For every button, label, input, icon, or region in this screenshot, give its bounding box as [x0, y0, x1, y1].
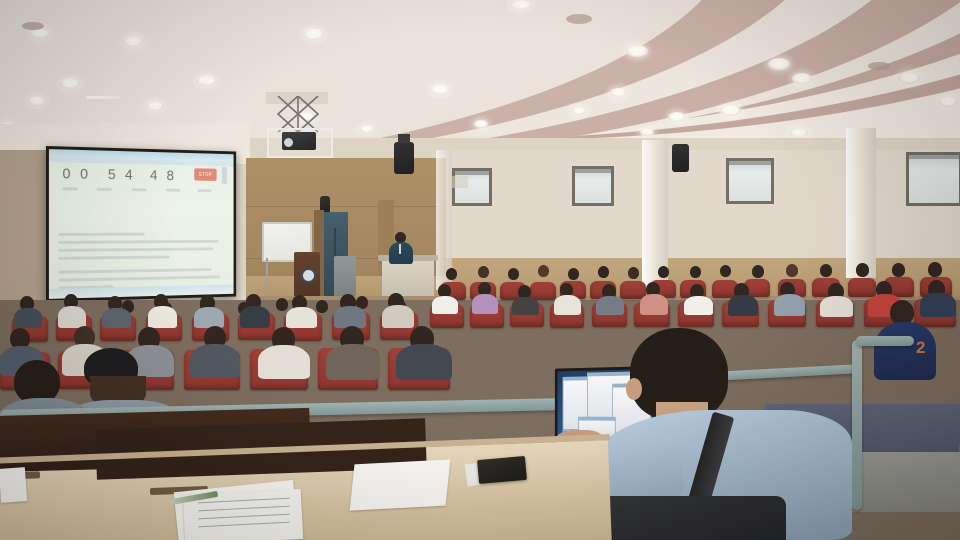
projector-lens [284, 138, 293, 147]
downlight [610, 88, 627, 97]
window-with-shade [906, 152, 960, 206]
column [846, 128, 876, 278]
timer-label [166, 189, 180, 192]
window-with-shade [572, 166, 614, 206]
timer-seconds: 4 8 [150, 167, 177, 184]
downlight [938, 96, 958, 107]
wall-speaker [394, 142, 414, 174]
timer-label [62, 187, 77, 190]
wall-speaker [672, 144, 689, 172]
timer-label [132, 188, 147, 191]
lecturer [388, 232, 414, 262]
timer-minutes: 5 4 [108, 166, 135, 183]
ear [626, 378, 642, 400]
speaker-mount [398, 134, 410, 143]
downlight [768, 58, 790, 70]
screen-text-line [59, 255, 170, 259]
screen-text-line [59, 240, 219, 244]
foreground-person [586, 328, 886, 540]
screen-text-line [59, 247, 214, 251]
downlight [792, 73, 812, 84]
stop-button[interactable]: STOP [194, 168, 216, 181]
downlight [572, 107, 586, 115]
downlight [123, 36, 143, 47]
downlight [640, 128, 654, 136]
downlight [430, 84, 450, 95]
wood-panel-seam [246, 206, 446, 207]
downlight [28, 96, 46, 106]
downlight [196, 75, 217, 86]
lecturer-lanyard [399, 244, 401, 254]
ceiling-strip-light [86, 96, 120, 99]
paper-on-ledge [0, 467, 27, 503]
timer-label [97, 188, 112, 191]
jersey-number: 2 [916, 338, 938, 360]
downlight [474, 120, 488, 128]
lecture-hall-photo: 0 0 5 4 4 8 STOP [0, 0, 960, 540]
ceiling-vent [868, 62, 890, 70]
downlight [146, 101, 164, 111]
wall-sign [452, 176, 468, 188]
downlight [668, 112, 686, 122]
downlight [720, 105, 741, 116]
shoulder-bag [596, 496, 786, 540]
downlight [626, 45, 648, 57]
lecturer-torso [389, 242, 413, 264]
scrollbar[interactable] [222, 167, 227, 184]
downlight [360, 125, 374, 133]
timer-hours: 0 0 [62, 165, 90, 182]
timer-label [198, 189, 212, 192]
downlight [790, 128, 808, 138]
leather-wallet [477, 456, 527, 484]
downlight [510, 0, 532, 10]
downlight [60, 78, 80, 89]
screen-text-line [59, 233, 145, 236]
ceiling-vent [566, 14, 592, 24]
ceiling-vent [22, 22, 44, 30]
downlight [898, 72, 920, 84]
blank-paper-sheet [350, 459, 451, 510]
window-with-shade [726, 158, 774, 204]
downlight [303, 28, 325, 40]
